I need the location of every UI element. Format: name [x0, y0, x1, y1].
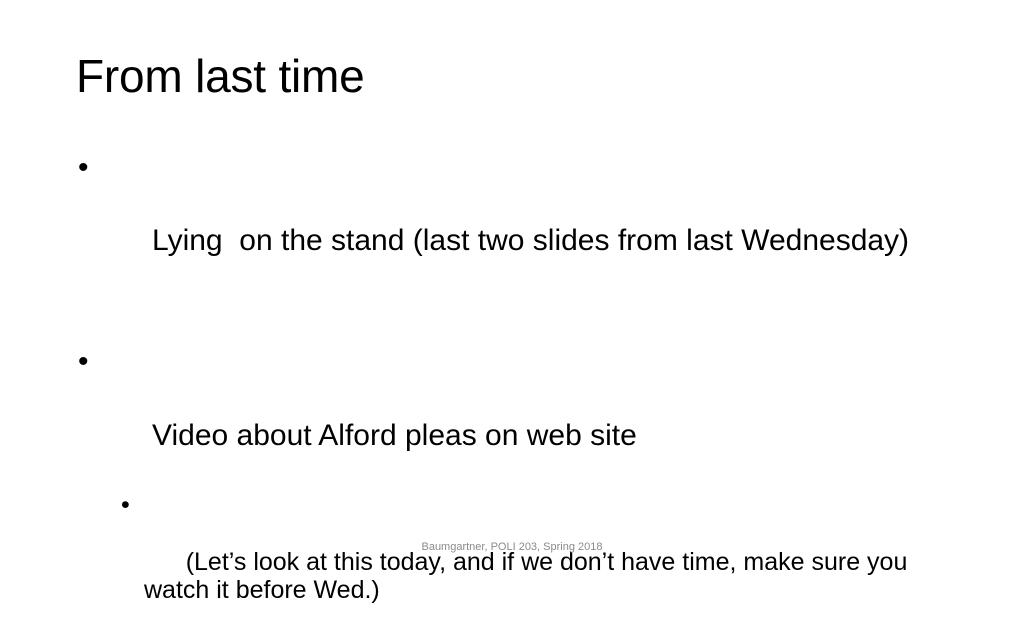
slide-title: From last time [76, 51, 956, 103]
bullet-marker-icon: • [78, 150, 89, 187]
presentation-slide: From last time • Lying on the stand (las… [0, 0, 1024, 576]
sub-bullet-item-watch-video-note: • (Let’s look at this today, and if we d… [119, 491, 956, 633]
sub-bullet-text: (Let’s look at this today, and if we don… [144, 548, 914, 605]
bullet-item-lying-on-the-stand: • Lying on the stand (last two slides fr… [76, 150, 956, 296]
slide-footer-attribution: Baumgartner, POLI 203, Spring 2018 [0, 541, 1024, 554]
bullet-spacer [76, 296, 956, 344]
bullet-marker-icon: • [78, 344, 89, 381]
sub-bullet-marker-icon: • [121, 491, 130, 520]
slide-body-content: • Lying on the stand (last two slides fr… [76, 150, 956, 633]
bullet-text: Lying on the stand (last two slides from… [152, 224, 909, 257]
bullet-text: Video about Alford pleas on web site [152, 419, 637, 452]
bullet-item-video-about-alford-pleas: • Video about Alford pleas on web site [76, 344, 956, 490]
